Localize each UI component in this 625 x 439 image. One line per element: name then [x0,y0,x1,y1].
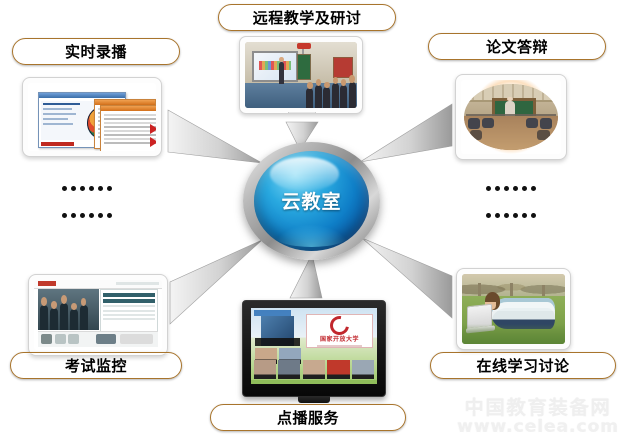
cloud-classroom-diagram: 远程教学及研讨 实时录播 论文答辩 考试监控 在线学习讨论 点播服务 [0,0,625,439]
university-emblem-icon [326,312,352,338]
label-on-demand-service-text: 点播服务 [277,407,339,428]
audience-seats [464,116,558,151]
open-university-logo: 国家开放大学 [306,314,374,348]
video-thumbnail-row-2 [254,360,375,380]
students-group [292,76,357,108]
ellipsis-left-upper [62,186,112,191]
open-university-logo-text: 国家开放大学 [320,337,359,343]
boy-with-laptop-image [462,274,565,344]
label-exam-monitoring[interactable]: 考试监控 [10,352,182,379]
lecture-hall-image [461,80,561,154]
label-on-demand-service[interactable]: 点播服务 [210,404,406,431]
label-thesis-defense-text: 论文答辩 [486,36,548,57]
card-online-learning-discussion[interactable] [456,268,571,350]
hub-sphere: 云教室 [254,151,369,250]
spoke-bottom [290,254,322,298]
label-exam-monitoring-text: 考试监控 [65,355,127,376]
label-online-learning-discussion[interactable]: 在线学习讨论 [430,352,616,379]
card-live-recording[interactable] [22,77,162,157]
teacher-figure [279,62,285,84]
site-logo [38,281,56,286]
label-live-recording[interactable]: 实时录播 [12,38,180,65]
label-thesis-defense[interactable]: 论文答辩 [428,33,606,60]
label-remote-teaching[interactable]: 远程教学及研讨 [218,4,396,31]
hub-label: 云教室 [281,187,341,214]
card-thesis-defense[interactable] [455,74,567,160]
data-window-front [100,105,156,151]
ellipsis-right-lower [486,213,536,218]
recording-software-windows-image [28,83,156,151]
label-online-learning-discussion-text: 在线学习讨论 [476,355,569,376]
spoke-top-left [168,110,262,163]
info-sidebar [100,289,158,332]
card-exam-monitoring[interactable] [28,274,168,356]
red-arrow-icon [150,137,156,147]
label-live-recording-text: 实时录播 [65,41,127,62]
classroom-photo-panel [38,289,99,330]
exam-monitoring-webpage-image [34,280,162,350]
card-on-demand-service-tv[interactable]: 国家开放大学 [242,300,386,397]
ellipsis-right-upper [486,186,536,191]
hub-cloud-classroom[interactable]: 云教室 [243,142,380,260]
classroom-projector-image [245,42,357,108]
ellipsis-left-lower [62,213,112,218]
spoke-top-right [360,104,452,162]
red-arrow-icon [150,124,156,134]
projector-icon [297,43,312,49]
thumbnail-strip [38,331,158,347]
label-remote-teaching-text: 远程教学及研讨 [253,7,362,28]
site-nav [116,282,160,285]
card-remote-teaching[interactable] [239,36,363,114]
tv-video-portal-image: 国家开放大学 [251,308,377,384]
